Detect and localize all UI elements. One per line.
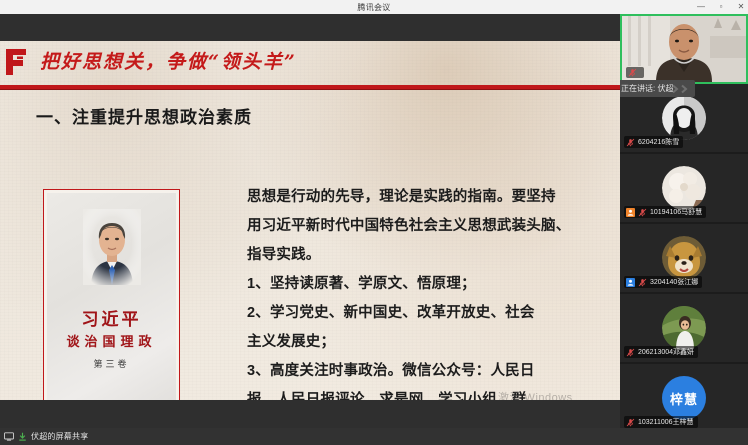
chevron-right-icon	[672, 84, 689, 93]
download-arrow-icon	[18, 432, 27, 441]
seal-decoration-icon	[4, 47, 30, 77]
book-title: 习近平	[47, 305, 176, 330]
slide-header: 把好思想关，争做“领头羊”	[0, 41, 620, 91]
minimize-icon[interactable]: —	[696, 3, 706, 11]
mic-off-icon	[626, 138, 635, 147]
participant-rail[interactable]: 正在讲话: 伏超 6204216陈雪	[620, 14, 748, 428]
avatar	[662, 96, 706, 140]
participant-name-tag: 206213004邓鑫妍	[624, 346, 698, 358]
speaking-tooltip-text: 正在讲话: 伏超	[621, 84, 673, 93]
slide-banner-title: 把好思想关，争做“领头羊”	[40, 47, 297, 74]
window-title: 腾讯会议	[357, 2, 390, 13]
avatar-image	[662, 96, 706, 140]
portrait-photo	[83, 209, 141, 285]
avatar-initials-text: 梓慧	[670, 389, 698, 408]
mic-off-icon	[626, 418, 635, 427]
participant-name: 206213004邓鑫妍	[638, 347, 694, 357]
cohost-badge-icon	[626, 278, 635, 287]
avatar-initials: 梓慧	[662, 376, 706, 420]
mic-off-icon	[628, 68, 637, 77]
participant-name: 10194106马舒慧	[650, 207, 702, 217]
mic-off-icon	[638, 278, 647, 287]
presentation-slide: 把好思想关，争做“领头羊” 一、注重提升思想政治素质	[0, 41, 620, 400]
participant-tile[interactable]: 3204140张江娜	[620, 224, 748, 294]
avatar-image	[662, 306, 706, 350]
participant-name: 103211006王梓慧	[638, 417, 694, 427]
window-titlebar: 腾讯会议 — ▫ ✕	[0, 0, 748, 14]
participant-tile-speaker[interactable]	[620, 14, 748, 84]
shared-screen-stage[interactable]: 把好思想关，争做“领头羊” 一、注重提升思想政治素质	[0, 14, 620, 428]
speaking-tooltip: 正在讲话: 伏超	[620, 80, 695, 97]
host-badge-icon	[626, 208, 635, 217]
header-rule-shadow	[0, 89, 620, 90]
screen-share-icon	[4, 432, 14, 441]
close-icon[interactable]: ✕	[736, 3, 746, 11]
slide-line: 指导实践。	[247, 241, 599, 270]
slide-line: 用习近平新时代中国特色社会主义思想武装头脑、	[247, 212, 599, 241]
participant-name-tag	[626, 67, 644, 78]
book-volume: 第三卷	[47, 357, 176, 370]
participant-tile[interactable]: 10194106马舒慧	[620, 154, 748, 224]
participant-name-tag: 6204216陈雪	[624, 136, 683, 148]
participant-name-tag: 10194106马舒慧	[624, 206, 706, 218]
book-cover-image: 习近平 谈治国理政 第三卷	[43, 189, 180, 400]
slide-line: 1、坚持读原著、学原文、悟原理；	[247, 270, 599, 299]
slide-section-title: 一、注重提升思想政治素质	[36, 103, 252, 128]
book-subtitle: 谈治国理政	[47, 331, 176, 350]
participant-name-tag: 103211006王梓慧	[624, 416, 698, 428]
slide-line: 3、高度关注时事政治。微信公众号：人民日	[247, 357, 599, 386]
participant-name-tag: 3204140张江娜	[624, 276, 702, 288]
participant-name: 6204216陈雪	[638, 137, 679, 147]
avatar-image	[662, 236, 706, 280]
avatar	[662, 236, 706, 280]
screen-share-label: 伏超的屏幕共享	[31, 431, 88, 442]
participant-tile[interactable]: 梓慧 103211006王梓慧	[620, 364, 748, 428]
mic-off-icon	[626, 348, 635, 357]
bottom-status-bar: 伏超的屏幕共享	[0, 428, 748, 445]
mic-off-icon	[638, 208, 647, 217]
participant-tile[interactable]: 206213004邓鑫妍	[620, 294, 748, 364]
avatar	[662, 166, 706, 210]
book-cover-inner: 习近平 谈治国理政 第三卷	[47, 193, 176, 400]
maximize-icon[interactable]: ▫	[716, 3, 726, 11]
slide-line: 报、人民日报评论、求是网、学习小组、群	[247, 386, 599, 400]
window-controls: — ▫ ✕	[696, 0, 746, 14]
avatar-image	[662, 166, 706, 210]
slide-line: 2、学习党史、新中国史、改革开放史、社会	[247, 299, 599, 328]
participant-name: 3204140张江娜	[650, 277, 698, 287]
slide-body-text: 思想是行动的先导，理论是实践的指南。要坚持 用习近平新时代中国特色社会主义思想武…	[247, 183, 599, 400]
avatar	[662, 306, 706, 350]
slide-line: 主义发展史；	[247, 328, 599, 357]
slide-line: 思想是行动的先导，理论是实践的指南。要坚持	[247, 183, 599, 212]
